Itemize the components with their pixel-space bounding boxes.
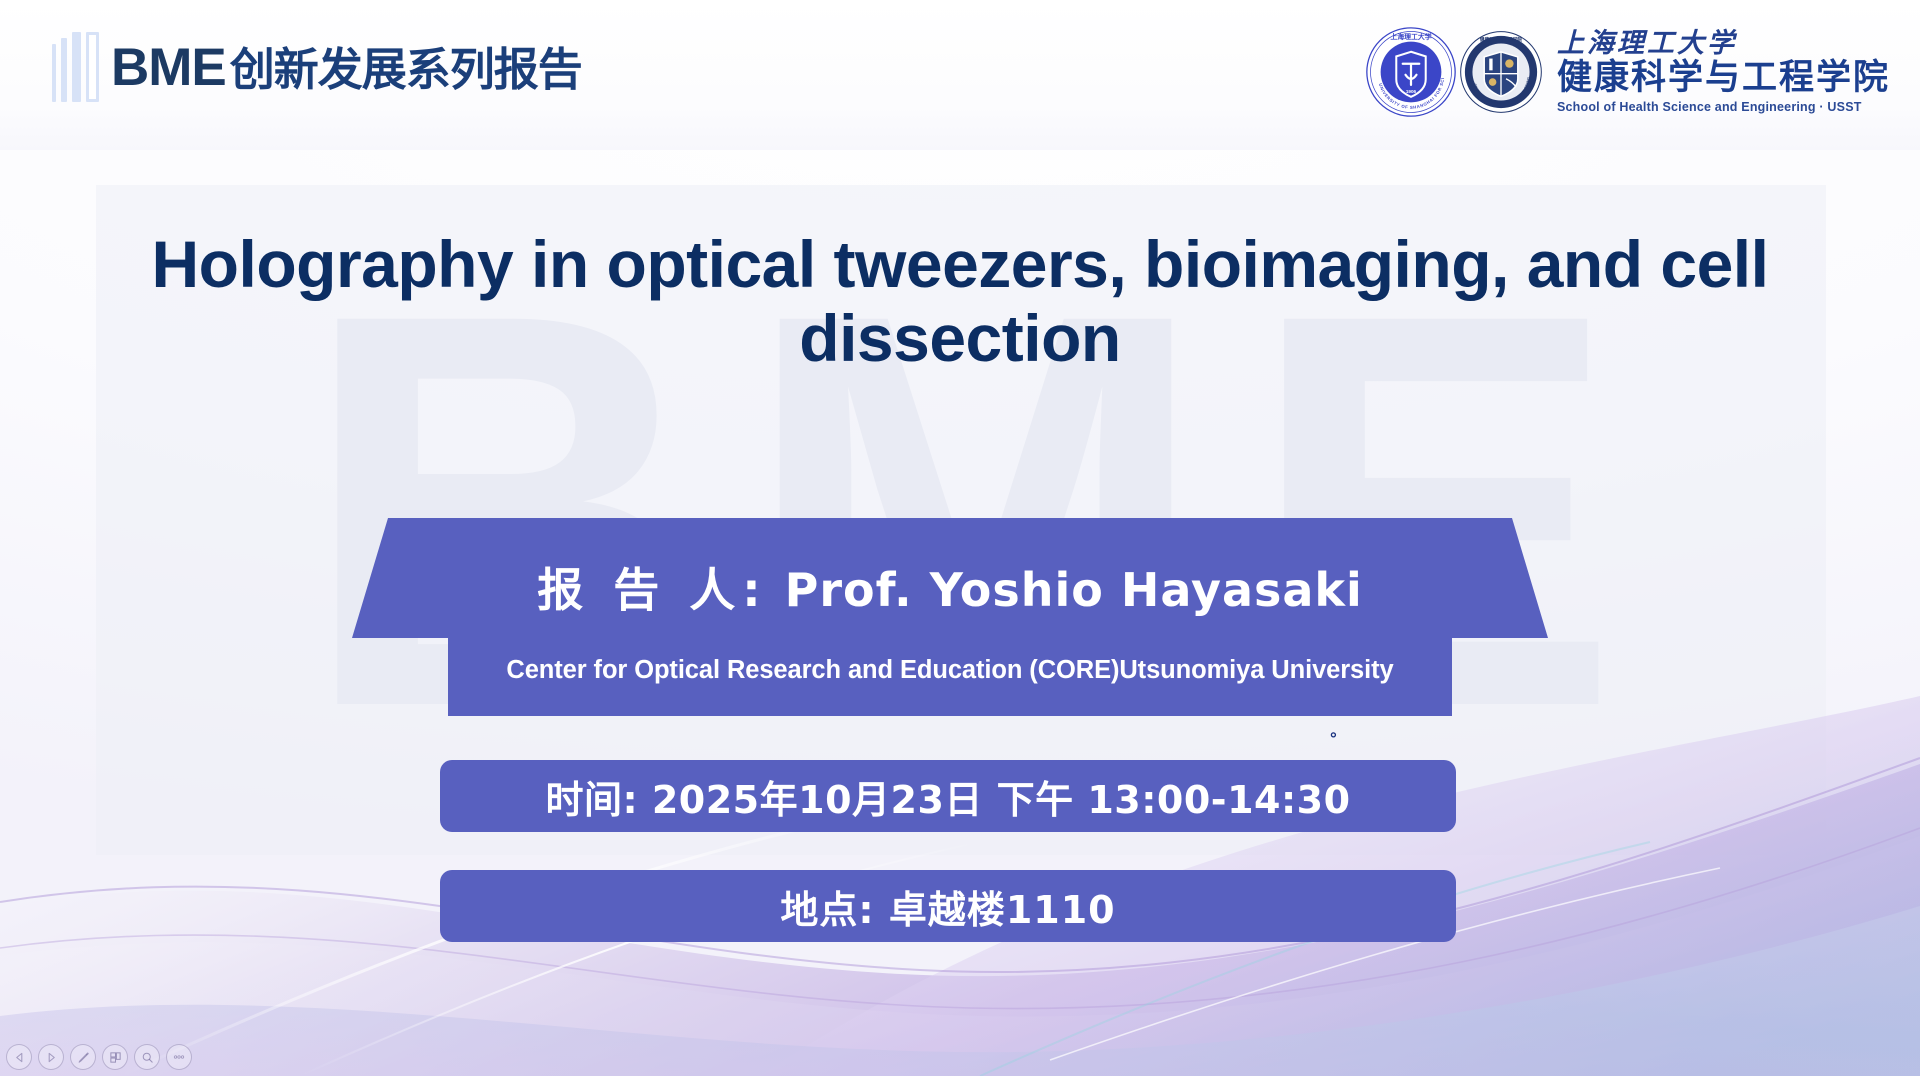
more-options-button[interactable] xyxy=(166,1044,192,1070)
vertical-bars-icon xyxy=(52,32,99,102)
speaker-name: Prof. Yoshio Hayasaki xyxy=(785,563,1363,617)
grid-icon xyxy=(109,1051,122,1064)
zoom-button[interactable] xyxy=(134,1044,160,1070)
slide-header: BME 创新发展系列报告 1906 上海理工大学 UNIVERSITY OF S… xyxy=(0,0,1920,150)
event-time-box: 时间: 2025年10月23日 下午 13:00-14:30 xyxy=(440,760,1456,832)
health-school-seal-icon: 健康科学与工程学院 SCHOOL OF HEALTH SCIENCE AND E… xyxy=(1459,30,1543,114)
presentation-slide: BME xyxy=(0,0,1920,1076)
lecture-title: Holography in optical tweezers, bioimagi… xyxy=(100,228,1820,376)
event-location-box: 地点: 卓越楼1110 xyxy=(440,870,1456,942)
university-name-cn: 上海理工大学 xyxy=(1557,30,1890,57)
triangle-right-icon xyxy=(46,1052,57,1063)
brand-bme-text: BME xyxy=(111,41,226,94)
school-name-cn: 健康科学与工程学院 xyxy=(1557,61,1890,96)
svg-text:1906: 1906 xyxy=(1406,89,1417,94)
speaker-label: 报 告 人: xyxy=(537,563,767,617)
pen-annotate-button[interactable] xyxy=(70,1044,96,1070)
svg-text:上海理工大学: 上海理工大学 xyxy=(1390,32,1431,41)
pencil-icon xyxy=(77,1051,90,1064)
next-slide-button[interactable] xyxy=(38,1044,64,1070)
ellipsis-icon xyxy=(172,1054,186,1060)
usst-seal-icon: 1906 上海理工大学 UNIVERSITY OF SHANGHAI FOR S… xyxy=(1365,26,1457,118)
triangle-left-icon xyxy=(14,1052,25,1063)
speaker-affiliation: Center for Optical Research and Educatio… xyxy=(352,656,1548,685)
brand-series-title: 创新发展系列报告 xyxy=(230,47,582,92)
bme-series-logo: BME 创新发展系列报告 xyxy=(52,26,582,108)
degree-mark: ° xyxy=(1330,730,1337,747)
speaker-line: 报 告 人: Prof. Yoshio Hayasaki xyxy=(352,554,1548,620)
slide-grid-button[interactable] xyxy=(102,1044,128,1070)
school-name-en: School of Health Science and Engineering… xyxy=(1557,101,1890,114)
university-identity: 1906 上海理工大学 UNIVERSITY OF SHANGHAI FOR S… xyxy=(1365,22,1890,122)
speaker-ribbon: 报 告 人: Prof. Yoshio Hayasaki Center for … xyxy=(352,518,1548,716)
previous-slide-button[interactable] xyxy=(6,1044,32,1070)
magnifier-icon xyxy=(141,1051,154,1064)
presentation-toolbar[interactable] xyxy=(6,1044,192,1070)
